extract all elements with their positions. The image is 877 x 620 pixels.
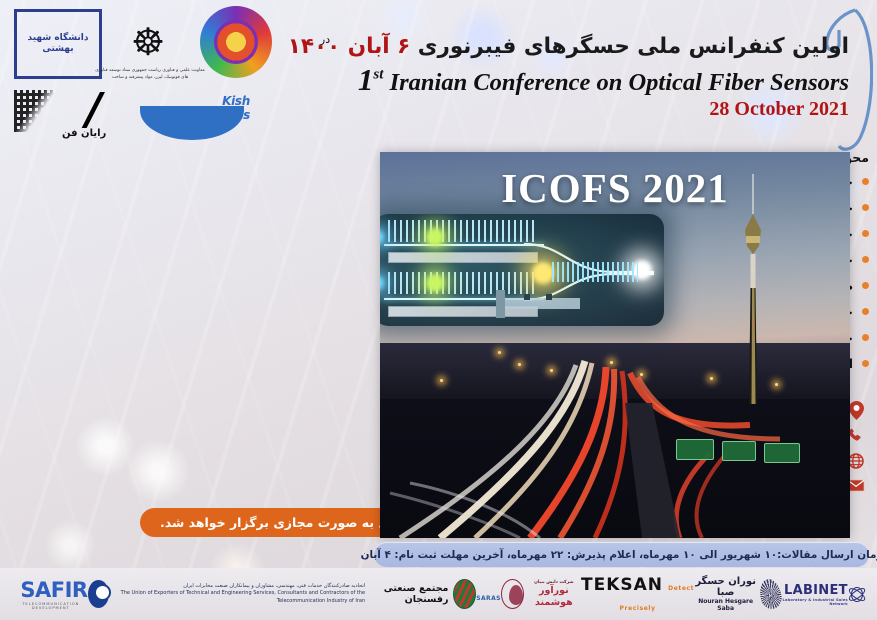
sponsor-labinet-logo: LABINET Laboratory & Industrial Sales Ne… bbox=[781, 574, 863, 614]
etehadieh-name: اتحادیه صادرکنندگان خدمات فنی، مهندسی، م… bbox=[113, 583, 365, 606]
flame-circle-icon bbox=[501, 579, 524, 609]
nouran-name: نوران حسگر صبا Nouran Hesgare Saba bbox=[695, 576, 756, 613]
rafsanjan-name: مجتمع صنعتی رفسنجان bbox=[365, 583, 448, 605]
bullet-icon bbox=[862, 256, 869, 263]
saras-name: SARAS bbox=[476, 595, 501, 602]
safir-subtitle: TELECOMMUNICATION DEVELOPMENT bbox=[14, 602, 88, 610]
title-persian-main: اولین کنفرانس ملی حسگرهای فیبرنوری bbox=[418, 34, 849, 59]
highway-night-scene bbox=[380, 343, 850, 538]
labinet-lockup: LABINET Laboratory & Industrial Sales Ne… bbox=[781, 583, 863, 606]
teksan-lockup: TEKSAN Detect Precisely bbox=[580, 575, 695, 614]
saras-lockup: SARAS bbox=[476, 585, 501, 604]
highway-sign bbox=[722, 441, 756, 461]
chip-waveguide-upper bbox=[384, 244, 544, 246]
sponsor-nouran-hesgare-saba-logo: نوران حسگر صبا Nouran Hesgare Saba bbox=[695, 574, 781, 614]
rayan-fan-label: رایان فن bbox=[62, 128, 106, 139]
sbu-logo-text: دانشگاه شهید بهشتی bbox=[20, 33, 96, 56]
milad-tower-icon bbox=[740, 174, 766, 404]
nouran-subtitle: Nouran Hesgare Saba bbox=[695, 599, 756, 613]
caliper-icon bbox=[494, 286, 594, 322]
atom-icon bbox=[851, 587, 863, 602]
opsi-logo-inner-rings bbox=[214, 20, 258, 64]
chip-glow-blue-2 bbox=[380, 276, 384, 290]
bullet-icon bbox=[862, 178, 869, 185]
bullet-icon bbox=[862, 360, 869, 367]
safir-name: SAFIR bbox=[20, 578, 87, 602]
chip-bar-top bbox=[388, 252, 538, 263]
sponsor-rafsanjan-industrial-complex-logo: مجتمع صنعتی رفسنجان bbox=[365, 574, 476, 614]
highway-sign bbox=[676, 439, 714, 460]
safir-lockup: SAFIR TELECOMMUNICATION DEVELOPMENT bbox=[14, 578, 88, 610]
bullet-icon bbox=[862, 204, 869, 211]
iran-emblem-icon: ☸ bbox=[118, 14, 178, 69]
teksan-name: TEKSAN bbox=[581, 575, 663, 595]
labinet-name: LABINET Laboratory & Industrial Sales Ne… bbox=[781, 583, 848, 606]
kish-mechatronics-label: Kish Mechatronics bbox=[148, 94, 250, 122]
sponsor-teksan-logo: TEKSAN Detect Precisely bbox=[580, 574, 695, 614]
conference-poster: دانشگاه شهید بهشتی ☸ معاونت علمی و فناور… bbox=[0, 0, 877, 620]
chip-signal-waveform bbox=[552, 262, 638, 282]
title-block: اولین کنفرانس ملی حسگرهای فیبرنوری ۶ آبا… bbox=[329, 34, 849, 121]
sponsor-logo-strip: LABINET Laboratory & Industrial Sales Ne… bbox=[0, 568, 877, 620]
sponsor-exporters-union-logo: اتحادیه صادرکنندگان خدمات فنی، مهندسی، م… bbox=[88, 574, 366, 614]
title-english-date: 28 October 2021 bbox=[329, 98, 849, 121]
sponsor-safir-logo: SAFIR TELECOMMUNICATION DEVELOPMENT bbox=[14, 574, 88, 614]
signal-circle-icon bbox=[88, 580, 109, 608]
title-english: 1st Iranian Conference on Optical Fiber … bbox=[329, 63, 849, 97]
chip-glow-green-2 bbox=[426, 274, 444, 292]
sponsor-saras-logo: SARAS bbox=[476, 574, 501, 614]
submission-dates-bar: زمان ارسال مقالات:۱۰ شهریور الی ۱۰ مهرما… bbox=[374, 542, 869, 567]
chip-glow-yellow bbox=[532, 262, 554, 284]
nooravar-name: شرکت دانش بنیان نورآور هوشمند bbox=[528, 580, 580, 608]
bullet-icon bbox=[862, 282, 869, 289]
title-ordinal-suffix: st bbox=[373, 67, 383, 83]
kish-mechatronics-logo: Kish Mechatronics bbox=[140, 88, 250, 140]
bullet-icon bbox=[862, 334, 869, 341]
bullet-icon bbox=[862, 308, 869, 315]
hero-image: ICOFS 2021 bbox=[380, 152, 850, 538]
rayan-fan-logo: / رایان فن bbox=[10, 86, 125, 144]
title-english-text: Iranian Conference on Optical Fiber Sens… bbox=[390, 69, 849, 96]
pistachio-circle-icon bbox=[453, 579, 476, 609]
iran-emblem-caption-text: معاونت علمی و فناوری ریاست جمهوری ستاد ت… bbox=[95, 68, 205, 80]
chip-glow-green-1 bbox=[426, 228, 444, 246]
photonic-chip-graphic bbox=[380, 214, 664, 326]
light-trails bbox=[380, 343, 850, 538]
shell-icon bbox=[757, 577, 784, 611]
chip-glow-blue-1 bbox=[380, 230, 384, 244]
chip-comb-top bbox=[388, 220, 538, 242]
bullet-icon bbox=[862, 230, 869, 237]
title-ordinal-number: 1st bbox=[358, 62, 384, 97]
sponsor-nooravar-hooshmand-logo: شرکت دانش بنیان نورآور هوشمند bbox=[501, 574, 580, 614]
hero-acronym-title: ICOFS 2021 bbox=[380, 164, 850, 212]
iran-emblem-caption: معاونت علمی و فناوری ریاست جمهوری ستاد ت… bbox=[95, 68, 205, 81]
sbu-university-logo: دانشگاه شهید بهشتی bbox=[14, 9, 102, 79]
labinet-subtitle: Laboratory & Industrial Sales Network bbox=[781, 598, 848, 606]
title-persian-date: ۶ آبان ۱۴۰۰ bbox=[288, 34, 410, 59]
title-persian: اولین کنفرانس ملی حسگرهای فیبرنوری ۶ آبا… bbox=[329, 34, 849, 61]
highway-sign bbox=[764, 443, 800, 463]
etehadieh-subtitle: The Union of Exporters of Technical and … bbox=[121, 590, 366, 604]
